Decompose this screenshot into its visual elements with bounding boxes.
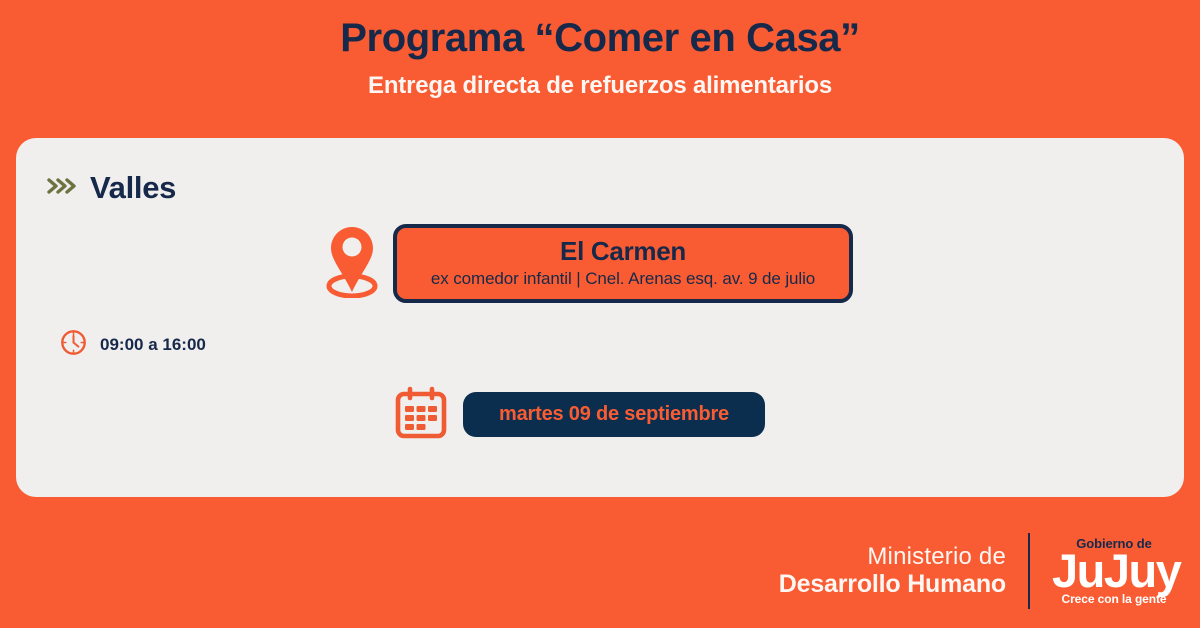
ministry-line-1: Ministerio de [779,544,1006,571]
ministry-line-2: Desarrollo Humano [779,570,1006,598]
location-row: El Carmen ex comedor infantil | Cnel. Ar… [16,224,1184,303]
date-row: martes 09 de septiembre [16,385,1184,444]
schedule-hours: 09:00 a 16:00 [100,335,206,355]
calendar-icon [395,385,447,444]
gov-logo-wordmark: JuJuy [1052,552,1176,591]
date-badge[interactable]: martes 09 de septiembre [463,392,765,437]
page-footer: Ministerio de Desarrollo Humano Gobierno… [779,528,1176,614]
location-address: ex comedor infantil | Cnel. Arenas esq. … [417,269,829,289]
region-heading: Valles [16,138,1184,206]
gov-logo-slogan: Crece con la gente [1052,592,1176,606]
clock-icon [60,329,87,361]
page-title: Programa “Comer en Casa” [0,14,1200,62]
map-pin-icon [325,224,379,303]
page-header: Programa “Comer en Casa” Entrega directa… [0,0,1200,100]
location-name: El Carmen [417,235,829,268]
location-card[interactable]: El Carmen ex comedor infantil | Cnel. Ar… [393,224,853,303]
ministry-branding: Ministerio de Desarrollo Humano [779,544,1028,599]
region-label: Valles [90,170,176,206]
content-panel: Valles El Carmen ex comedor infantil | C… [16,138,1184,497]
triple-chevron-icon [46,175,76,202]
page-subtitle: Entrega directa de refuerzos alimentario… [0,72,1200,100]
schedule-row: 09:00 a 16:00 [16,329,1184,361]
government-logo: Gobierno de JuJuy Crece con la gente [1030,536,1176,606]
